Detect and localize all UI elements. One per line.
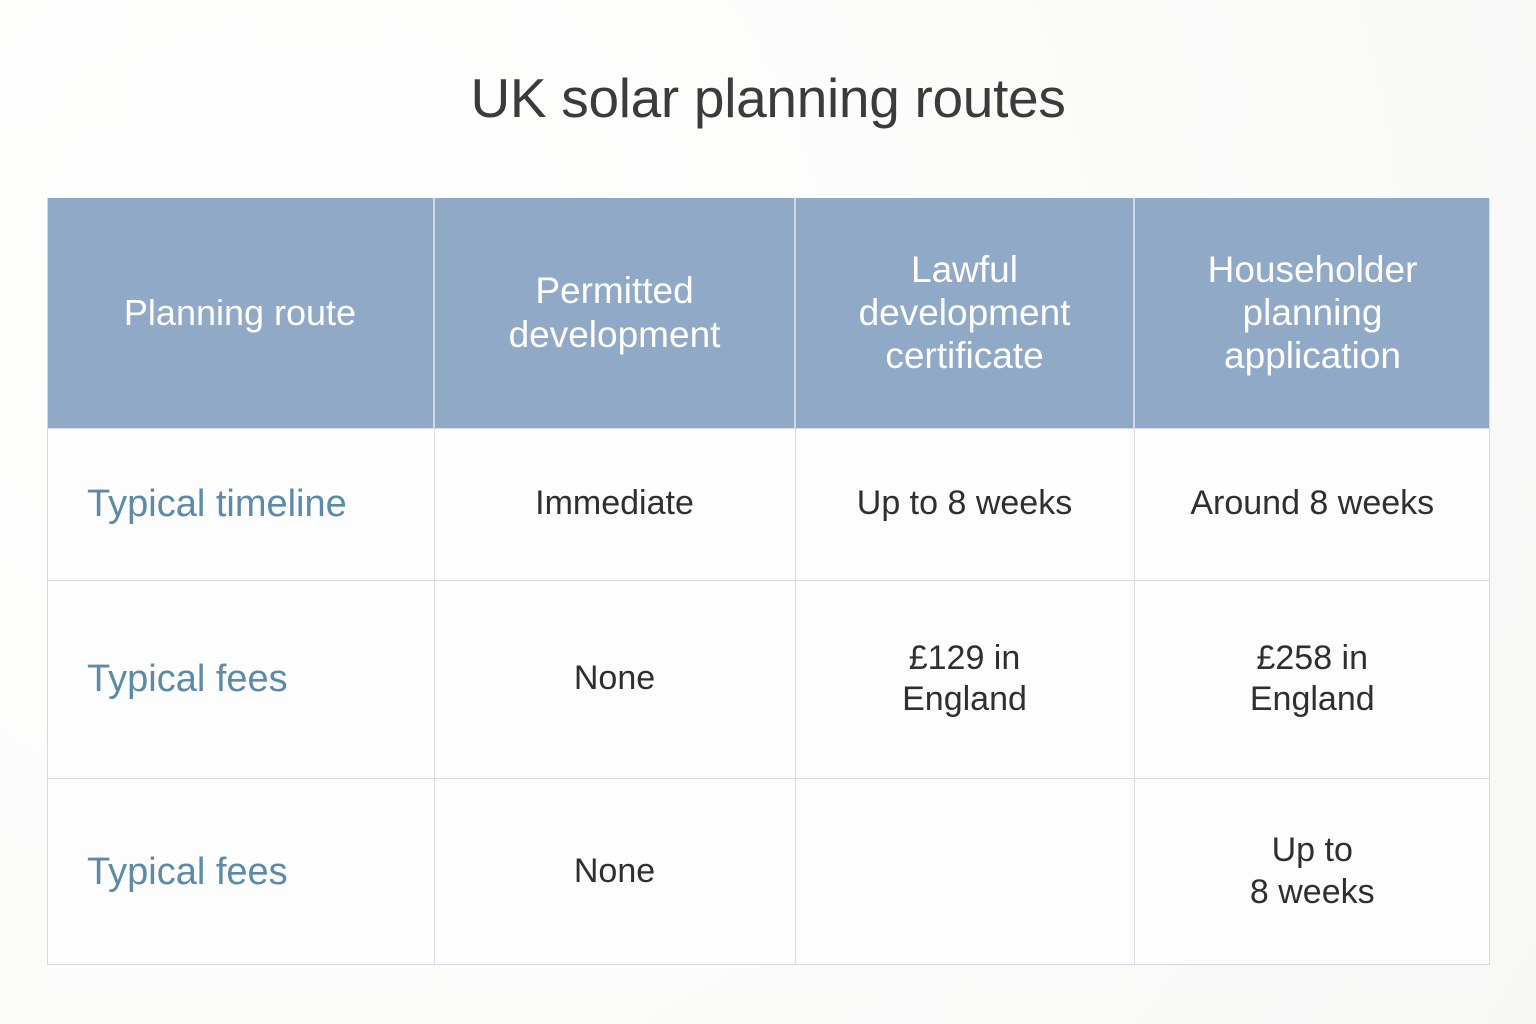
table-header-row: Planning route Permitted development Law…: [47, 198, 1490, 428]
cell-line-2: England: [1149, 679, 1477, 720]
cell-line-1: Up to: [1149, 830, 1477, 871]
cell-fees-lawful-development-certificate: £129 in England: [795, 580, 1134, 778]
column-header-householder-planning-application: Householder planning application: [1134, 198, 1490, 428]
cell-timeline-permitted-development: Immediate: [434, 428, 795, 580]
page-title: UK solar planning routes: [0, 68, 1536, 129]
cell-line-2: 8 weeks: [1149, 872, 1477, 913]
cell-line-2: England: [810, 679, 1120, 720]
cell-fees2-householder-planning-application: Up to 8 weeks: [1134, 778, 1490, 965]
table-header: Planning route Permitted development Law…: [47, 198, 1490, 428]
column-header-lawful-development-certificate: Lawful development certificate: [795, 198, 1134, 428]
table-row: Typical timeline Immediate Up to 8 weeks…: [47, 428, 1490, 580]
cell-line-1: None: [449, 851, 781, 892]
table-row: Typical fees None £129 in England £258 i…: [47, 580, 1490, 778]
column-header-permitted-development: Permitted development: [434, 198, 795, 428]
cell-line-1: Up to 8 weeks: [810, 483, 1120, 524]
cell-line-1: £129 in: [810, 638, 1120, 679]
cell-line-1: Around 8 weeks: [1149, 483, 1477, 524]
cell-line-1: Immediate: [449, 483, 781, 524]
column-header-planning-route: Planning route: [47, 198, 434, 428]
row-label-typical-fees-2: Typical fees: [47, 778, 434, 965]
row-label-typical-timeline: Typical timeline: [47, 428, 434, 580]
planning-routes-table: Planning route Permitted development Law…: [47, 198, 1490, 965]
cell-fees-permitted-development: None: [434, 580, 795, 778]
cell-fees2-lawful-development-certificate: [795, 778, 1134, 965]
planning-routes-table-wrapper: Planning route Permitted development Law…: [47, 198, 1490, 965]
cell-timeline-householder-planning-application: Around 8 weeks: [1134, 428, 1490, 580]
cell-fees-householder-planning-application: £258 in England: [1134, 580, 1490, 778]
cell-line-1: £258 in: [1149, 638, 1477, 679]
table-row: Typical fees None Up to 8 weeks: [47, 778, 1490, 965]
cell-timeline-lawful-development-certificate: Up to 8 weeks: [795, 428, 1134, 580]
cell-fees2-permitted-development: None: [434, 778, 795, 965]
row-label-typical-fees-1: Typical fees: [47, 580, 434, 778]
table-body: Typical timeline Immediate Up to 8 weeks…: [47, 428, 1490, 965]
cell-line-1: None: [449, 658, 781, 699]
